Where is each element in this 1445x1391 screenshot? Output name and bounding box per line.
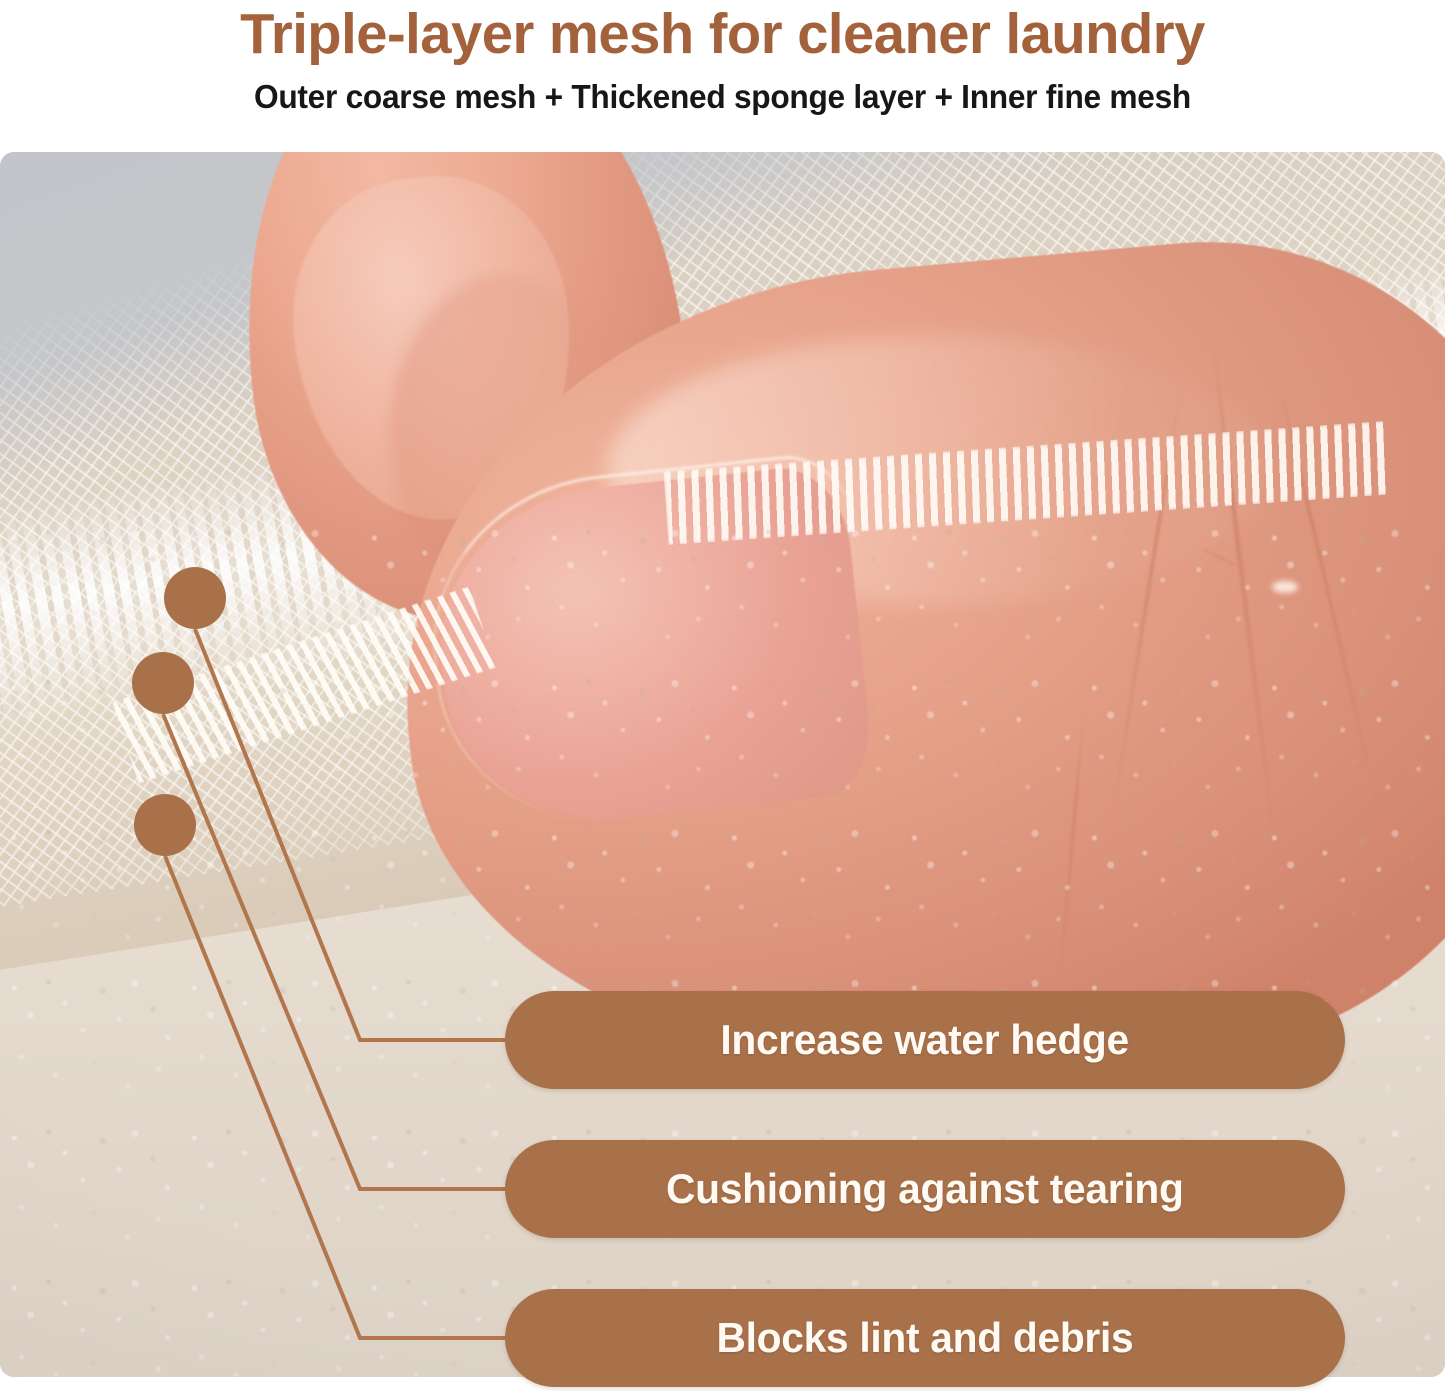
callout-label: Increase water hedge bbox=[721, 1016, 1130, 1064]
header: Triple-layer mesh for cleaner laundry Ou… bbox=[0, 0, 1445, 150]
callout-label: Cushioning against tearing bbox=[666, 1165, 1184, 1213]
page-subtitle: Outer coarse mesh + Thickened sponge lay… bbox=[29, 76, 1416, 118]
page-title: Triple-layer mesh for cleaner laundry bbox=[11, 2, 1434, 66]
callout-label: Blocks lint and debris bbox=[717, 1314, 1134, 1362]
callout-pill-increase-water-hedge[interactable]: Increase water hedge bbox=[505, 991, 1345, 1089]
callout-pill-cushioning-against-tearing[interactable]: Cushioning against tearing bbox=[505, 1140, 1345, 1238]
product-infographic: Triple-layer mesh for cleaner laundry Ou… bbox=[0, 0, 1445, 1391]
callout-pill-blocks-lint-and-debris[interactable]: Blocks lint and debris bbox=[505, 1289, 1345, 1387]
